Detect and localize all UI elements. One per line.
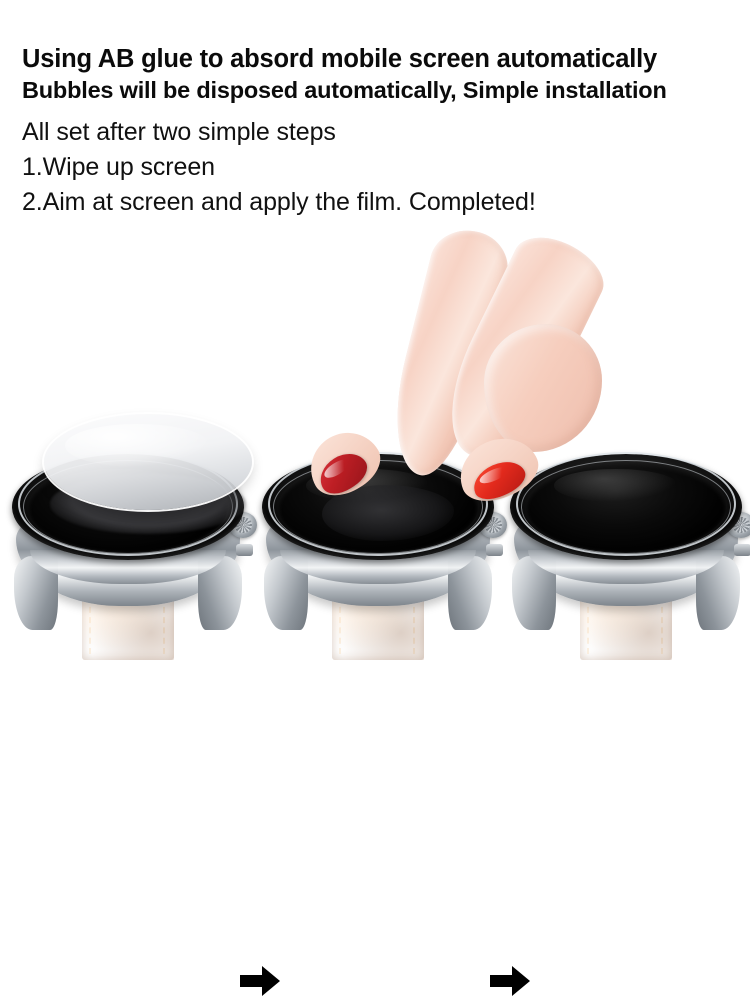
hand-illustration — [400, 228, 610, 496]
screen-protector-film — [44, 414, 252, 510]
watch-illustration-row — [0, 398, 750, 698]
instructions-intro: All set after two simple steps — [22, 115, 738, 150]
arrow-step-2-to-3 — [488, 964, 532, 998]
headline-line-1: Using AB glue to absord mobile screen au… — [22, 44, 738, 75]
film-shine — [65, 424, 211, 467]
arrow-step-1-to-2 — [238, 964, 282, 998]
text-block: Using AB glue to absord mobile screen au… — [22, 44, 738, 220]
headline-line-2: Bubbles will be disposed automatically, … — [22, 75, 738, 105]
hand-knuckle — [484, 324, 602, 452]
smartwatch-step-1 — [10, 420, 246, 670]
infographic-page: Using AB glue to absord mobile screen au… — [0, 0, 750, 750]
instruction-step-2: 2.Aim at screen and apply the film. Comp… — [22, 185, 738, 220]
illustration-step-1 — [2, 398, 252, 698]
instruction-step-1: 1.Wipe up screen — [22, 150, 738, 185]
